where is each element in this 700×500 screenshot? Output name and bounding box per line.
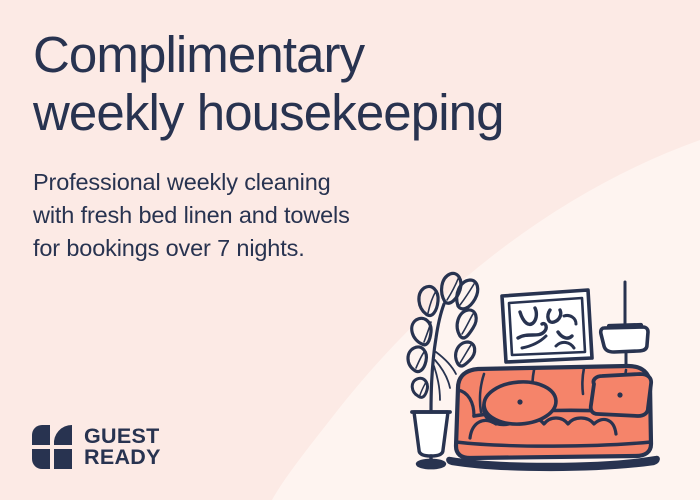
living-room-illustration	[398, 266, 700, 500]
text-block: Complimentary weekly housekeeping Profes…	[33, 26, 593, 265]
brand-logo: GUEST READY	[31, 424, 161, 470]
logo-wordmark: GUEST READY	[84, 426, 161, 468]
square-pillow	[591, 374, 651, 416]
guestready-logo-icon	[31, 424, 73, 470]
pendant-lamp	[601, 282, 648, 366]
logo-word-line1: GUEST	[84, 426, 161, 447]
sofa	[447, 366, 659, 470]
description-text: Professional weekly cleaning with fresh …	[33, 166, 593, 265]
promo-card: Complimentary weekly housekeeping Profes…	[0, 0, 700, 500]
page-title: Complimentary weekly housekeeping	[33, 26, 593, 142]
framed-artwork	[502, 290, 592, 362]
logo-word-line2: READY	[84, 447, 161, 468]
